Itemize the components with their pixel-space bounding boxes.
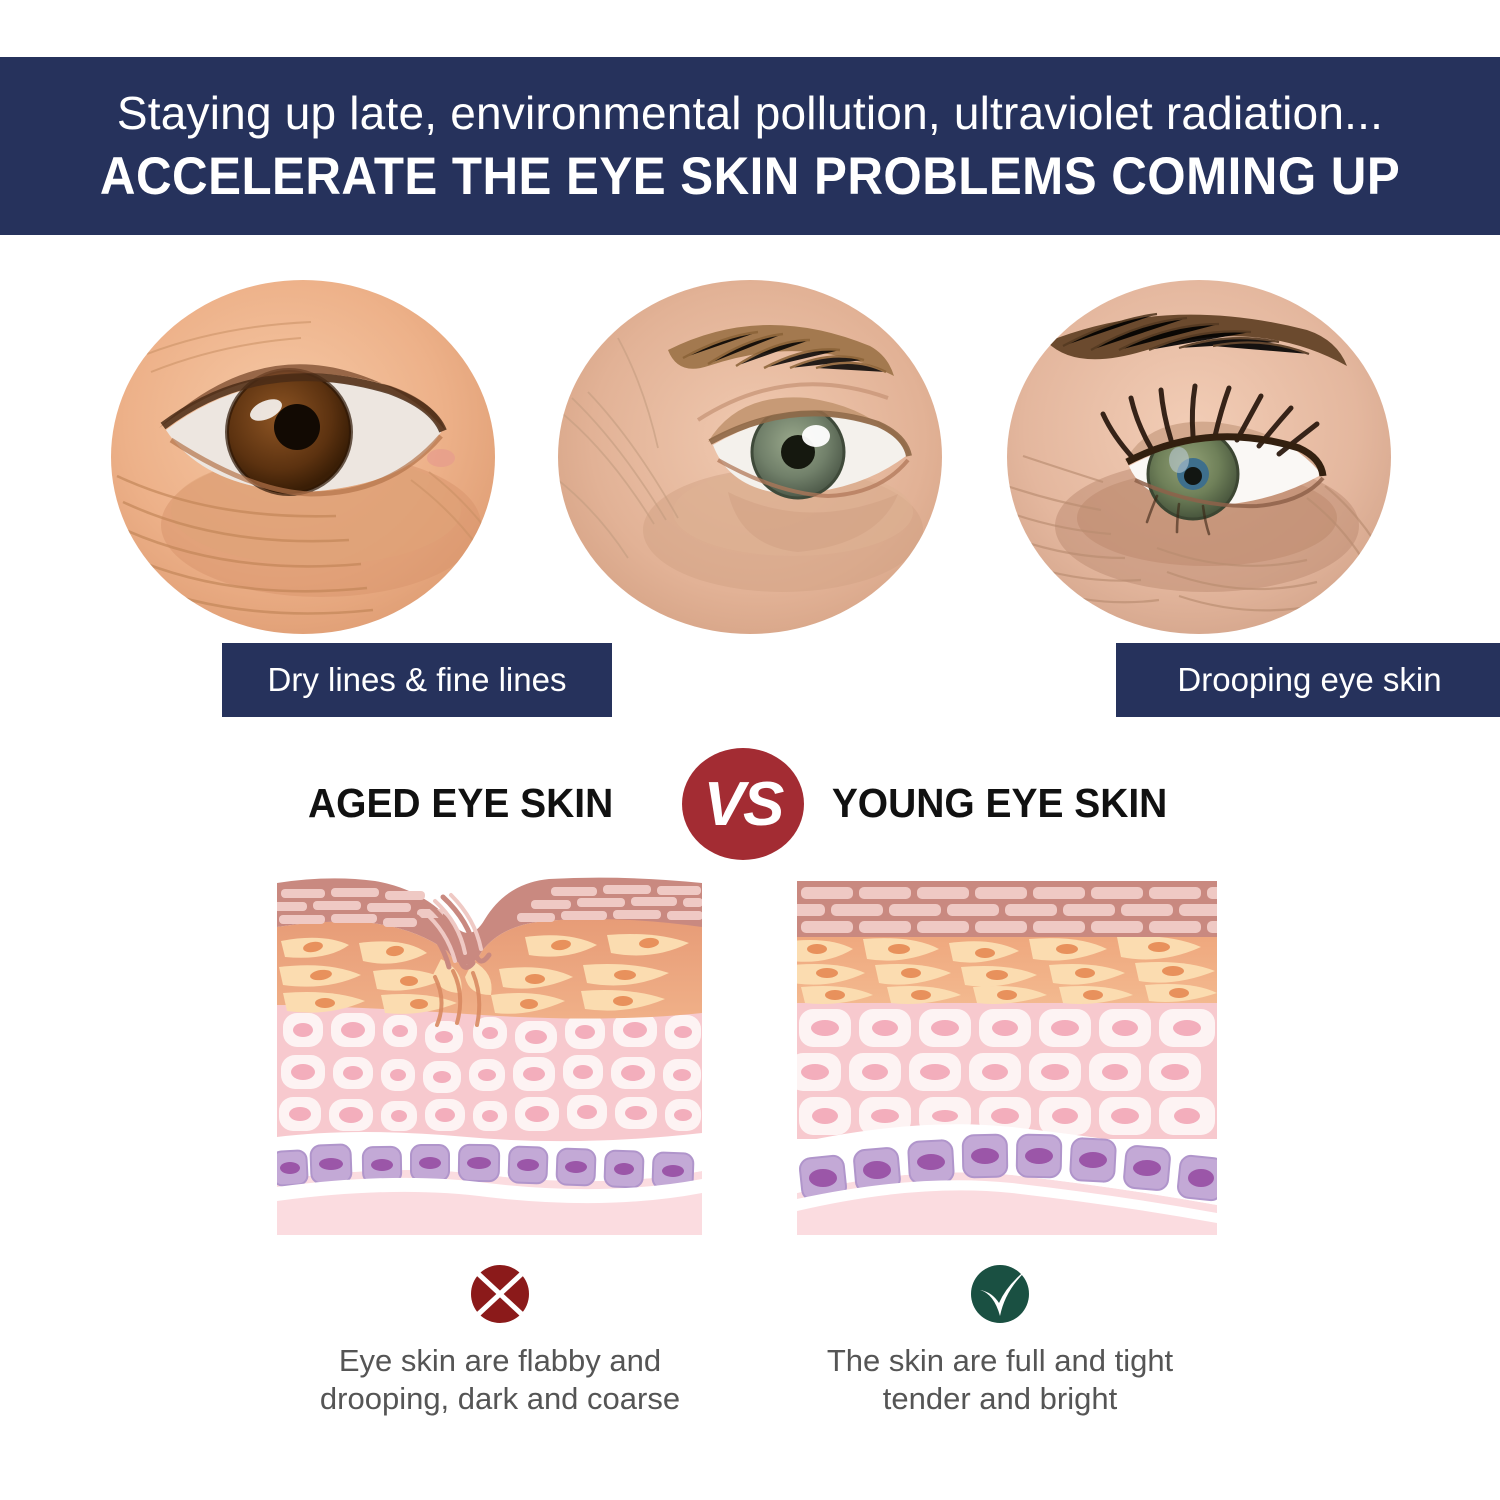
young-skin-cross-section — [797, 875, 1217, 1235]
cross-circle-icon — [464, 1258, 536, 1330]
header-title: ACCELERATE THE EYE SKIN PROBLEMS COMING … — [100, 150, 1400, 203]
problem-cards-row: Dry lines & fine lines — [0, 280, 1500, 720]
eye-photo-dark-circle — [1007, 280, 1391, 634]
header-banner: Staying up late, environmental pollution… — [0, 57, 1500, 235]
aged-eye-skin-heading: AGED EYE SKIN — [308, 748, 613, 858]
caption-drooping: Drooping eye skin — [1116, 643, 1500, 717]
vs-badge: VS — [682, 748, 804, 860]
aged-skin-cross-section — [277, 875, 702, 1235]
eye-photo-dry-lines — [111, 280, 495, 634]
caption-dry-lines: Dry lines & fine lines — [222, 643, 612, 717]
problem-card-dark-circle[interactable]: Dark circle & Wrinkles — [1007, 280, 1391, 634]
header-subtitle: Staying up late, environmental pollution… — [117, 90, 1383, 136]
check-circle-icon — [964, 1258, 1036, 1330]
result-young-text: The skin are full and tight tender and b… — [765, 1342, 1235, 1418]
result-aged-text: Eye skin are flabby and drooping, dark a… — [265, 1342, 735, 1418]
young-eye-skin-heading: YOUNG EYE SKIN — [832, 748, 1167, 858]
problem-card-dry-lines[interactable]: Dry lines & fine lines — [111, 280, 495, 634]
result-aged: Eye skin are flabby and drooping, dark a… — [265, 1258, 735, 1418]
eye-photo-drooping — [558, 280, 942, 634]
problem-card-drooping[interactable]: Drooping eye skin — [558, 280, 942, 634]
result-young: The skin are full and tight tender and b… — [765, 1258, 1235, 1418]
